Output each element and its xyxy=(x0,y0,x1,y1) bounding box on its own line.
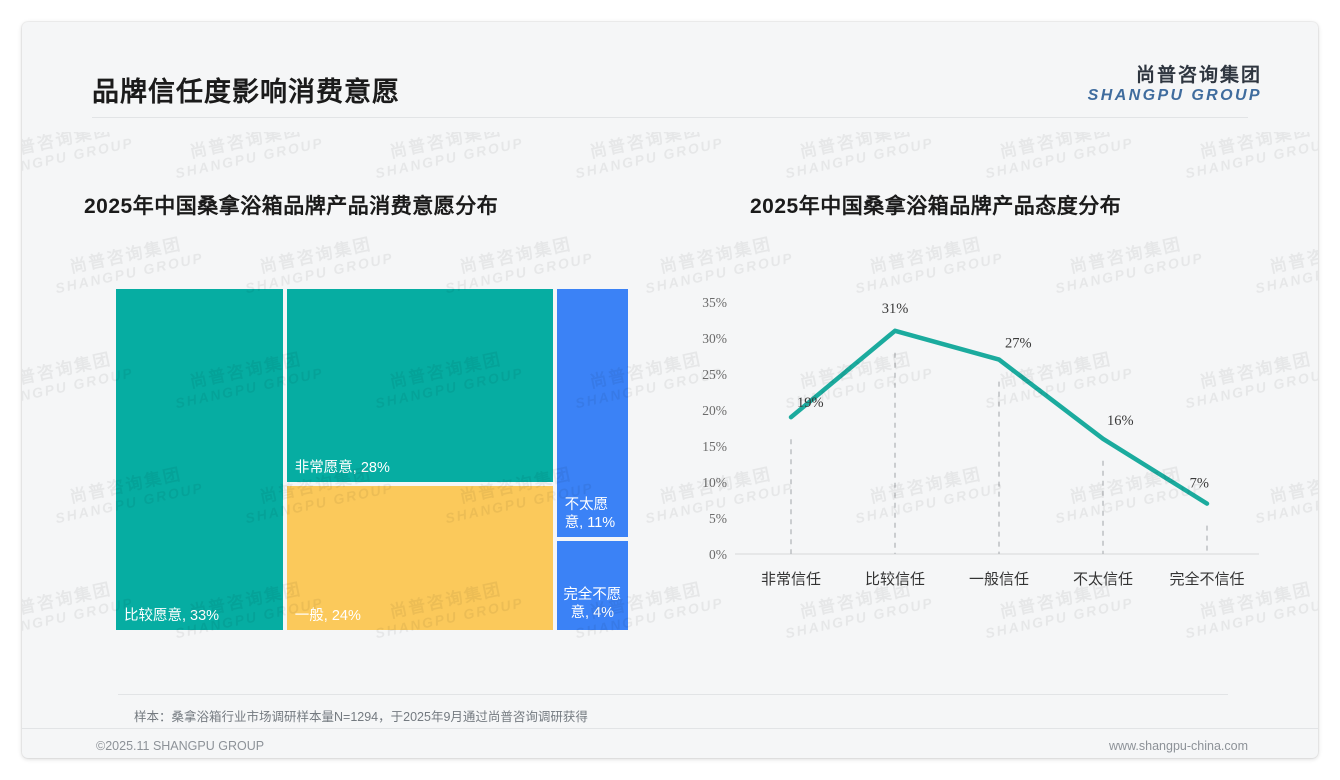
page-title: 品牌信任度影响消费意愿 xyxy=(92,70,400,109)
data-point-label: 16% xyxy=(1107,413,1134,429)
watermark-text: 尚普咨询集团SHANGPU GROUP xyxy=(780,132,935,181)
y-axis-tick-label: 0% xyxy=(709,547,727,562)
x-axis-category-label: 完全不信任 xyxy=(1169,570,1244,588)
watermark-text: 尚普咨询集团SHANGPU GROUP xyxy=(1180,132,1318,181)
y-axis-tick-label: 20% xyxy=(702,403,727,418)
y-axis-tick-label: 10% xyxy=(702,475,727,490)
treemap-cell-label: 比较愿意, 33% xyxy=(124,607,219,625)
attitude-series-line[interactable] xyxy=(791,331,1207,504)
logo-english-text: SHANGPU GROUP xyxy=(1088,88,1262,105)
x-axis-category-label: 非常信任 xyxy=(761,571,821,588)
y-axis-tick-label: 35% xyxy=(702,295,727,310)
watermark-text: 尚普咨询集团SHANGPU GROUP xyxy=(570,132,725,181)
treemap-cell[interactable]: 比较愿意, 33% xyxy=(114,287,285,632)
data-point-label: 27% xyxy=(1005,336,1032,352)
x-axis-category-label: 比较信任 xyxy=(865,570,925,588)
footer-divider xyxy=(22,728,1318,729)
watermark-text: 尚普咨询集团SHANGPU GROUP xyxy=(22,132,135,181)
line-chart-svg: 0%5%10%15%20%25%30%35%19%31%27%16%7%非常信任… xyxy=(677,280,1277,620)
company-logo: 尚普咨询集团 SHANGPU GROUP xyxy=(1088,66,1262,105)
y-axis-tick-label: 30% xyxy=(702,331,727,346)
data-point-label: 19% xyxy=(797,395,824,411)
treemap-cell-label: 不太愿意, 11% xyxy=(565,496,622,532)
sample-footnote: 样本：桑拿浴箱行业市场调研样本量N=1294，于2025年9月通过尚普咨询调研获… xyxy=(134,706,588,725)
y-axis-tick-label: 25% xyxy=(702,367,727,382)
brand-attitude-line-chart: 0%5%10%15%20%25%30%35%19%31%27%16%7%非常信任… xyxy=(677,280,1277,620)
slide-canvas: 品牌信任度影响消费意愿 尚普咨询集团 SHANGPU GROUP 尚普咨询集团S… xyxy=(22,22,1318,758)
footer-website[interactable]: www.shangpu-china.com xyxy=(1109,739,1248,753)
x-axis-category-label: 不太信任 xyxy=(1073,571,1133,588)
consumption-willingness-treemap: 比较愿意, 33%非常愿意, 28%一般, 24%不太愿意, 11%完全不愿意,… xyxy=(114,287,630,632)
data-point-label: 7% xyxy=(1190,476,1209,492)
watermark-text: 尚普咨询集团SHANGPU GROUP xyxy=(370,132,525,181)
footnote-divider xyxy=(118,694,1228,695)
treemap-cell[interactable]: 完全不愿意, 4% xyxy=(555,539,630,632)
watermark-text: 尚普咨询集团SHANGPU GROUP xyxy=(170,132,325,181)
treemap-cell[interactable]: 非常愿意, 28% xyxy=(285,287,555,484)
x-axis-category-label: 一般信任 xyxy=(969,571,1029,588)
right-chart-title: 2025年中国桑拿浴箱品牌产品态度分布 xyxy=(750,190,1121,220)
slide-header: 品牌信任度影响消费意愿 尚普咨询集团 SHANGPU GROUP xyxy=(22,22,1318,117)
treemap-cell-label: 完全不愿意, 4% xyxy=(557,586,628,622)
treemap-cell[interactable]: 不太愿意, 11% xyxy=(555,287,630,539)
treemap-cell-label: 非常愿意, 28% xyxy=(295,459,390,477)
header-divider xyxy=(92,117,1248,118)
treemap-cell-label: 一般, 24% xyxy=(295,607,361,625)
y-axis-tick-label: 5% xyxy=(709,511,727,526)
data-point-label: 31% xyxy=(882,301,909,317)
watermark-text: 尚普咨询集团SHANGPU GROUP xyxy=(980,132,1135,181)
logo-chinese-text: 尚普咨询集团 xyxy=(1088,66,1262,86)
y-axis-tick-label: 15% xyxy=(702,439,727,454)
treemap-cell[interactable]: 一般, 24% xyxy=(285,484,555,632)
footer-copyright: ©2025.11 SHANGPU GROUP xyxy=(96,739,264,753)
left-chart-title: 2025年中国桑拿浴箱品牌产品消费意愿分布 xyxy=(84,190,498,220)
